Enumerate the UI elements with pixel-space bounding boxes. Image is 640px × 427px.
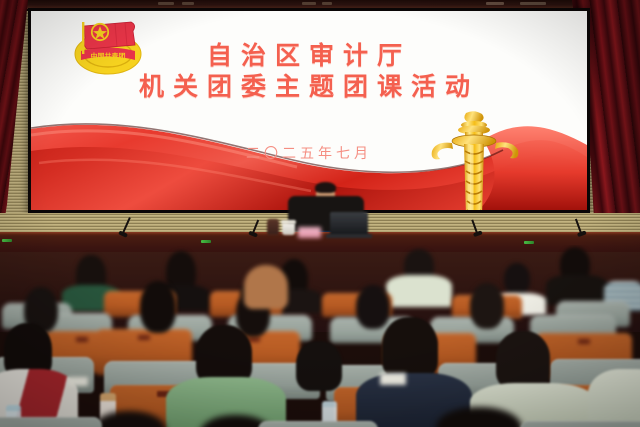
attendee-head xyxy=(496,331,550,389)
paper-sheet xyxy=(380,373,406,385)
attendee-head xyxy=(296,341,342,391)
desk-nameplate xyxy=(298,227,321,238)
seat-number-tag xyxy=(76,337,88,342)
table-led-indicator xyxy=(201,240,211,243)
seat-cushion xyxy=(0,417,102,427)
presentation-slide: 中国共青团 xyxy=(31,11,587,210)
audience-seating xyxy=(0,245,640,427)
seat-number-tag xyxy=(138,335,150,340)
slide-title: 自治区审计厅 机关团委主题团课活动 xyxy=(31,41,587,102)
table-led-indicator xyxy=(524,241,534,244)
slide-title-line-1: 自治区审计厅 xyxy=(31,41,587,72)
seat-cushion xyxy=(258,421,378,427)
thermos-flask xyxy=(267,219,279,235)
attendee-head xyxy=(140,281,176,333)
auditorium-photo: 中国共青团 xyxy=(0,0,640,427)
slide-title-line-2: 机关团委主题团课活动 xyxy=(31,72,587,103)
paper-sheet xyxy=(68,377,88,386)
laptop xyxy=(330,212,368,236)
table-led-indicator xyxy=(2,239,12,242)
attendee-body xyxy=(386,275,452,307)
seat-cushion xyxy=(520,421,640,427)
attendee-body xyxy=(588,369,640,427)
attendee-body xyxy=(244,265,288,309)
attendee-head xyxy=(382,317,438,379)
attendee-head xyxy=(196,325,252,385)
laptop-base xyxy=(326,234,372,238)
seat-number-tag xyxy=(578,339,590,344)
attendee-head xyxy=(356,285,390,329)
attendee-head xyxy=(504,263,530,295)
slide-date: 二〇二五年七月 xyxy=(31,143,587,163)
attendee-head xyxy=(470,283,504,329)
speaker-hair xyxy=(315,182,336,193)
tea-cup-lid xyxy=(281,220,296,224)
tea-cup xyxy=(282,223,295,235)
